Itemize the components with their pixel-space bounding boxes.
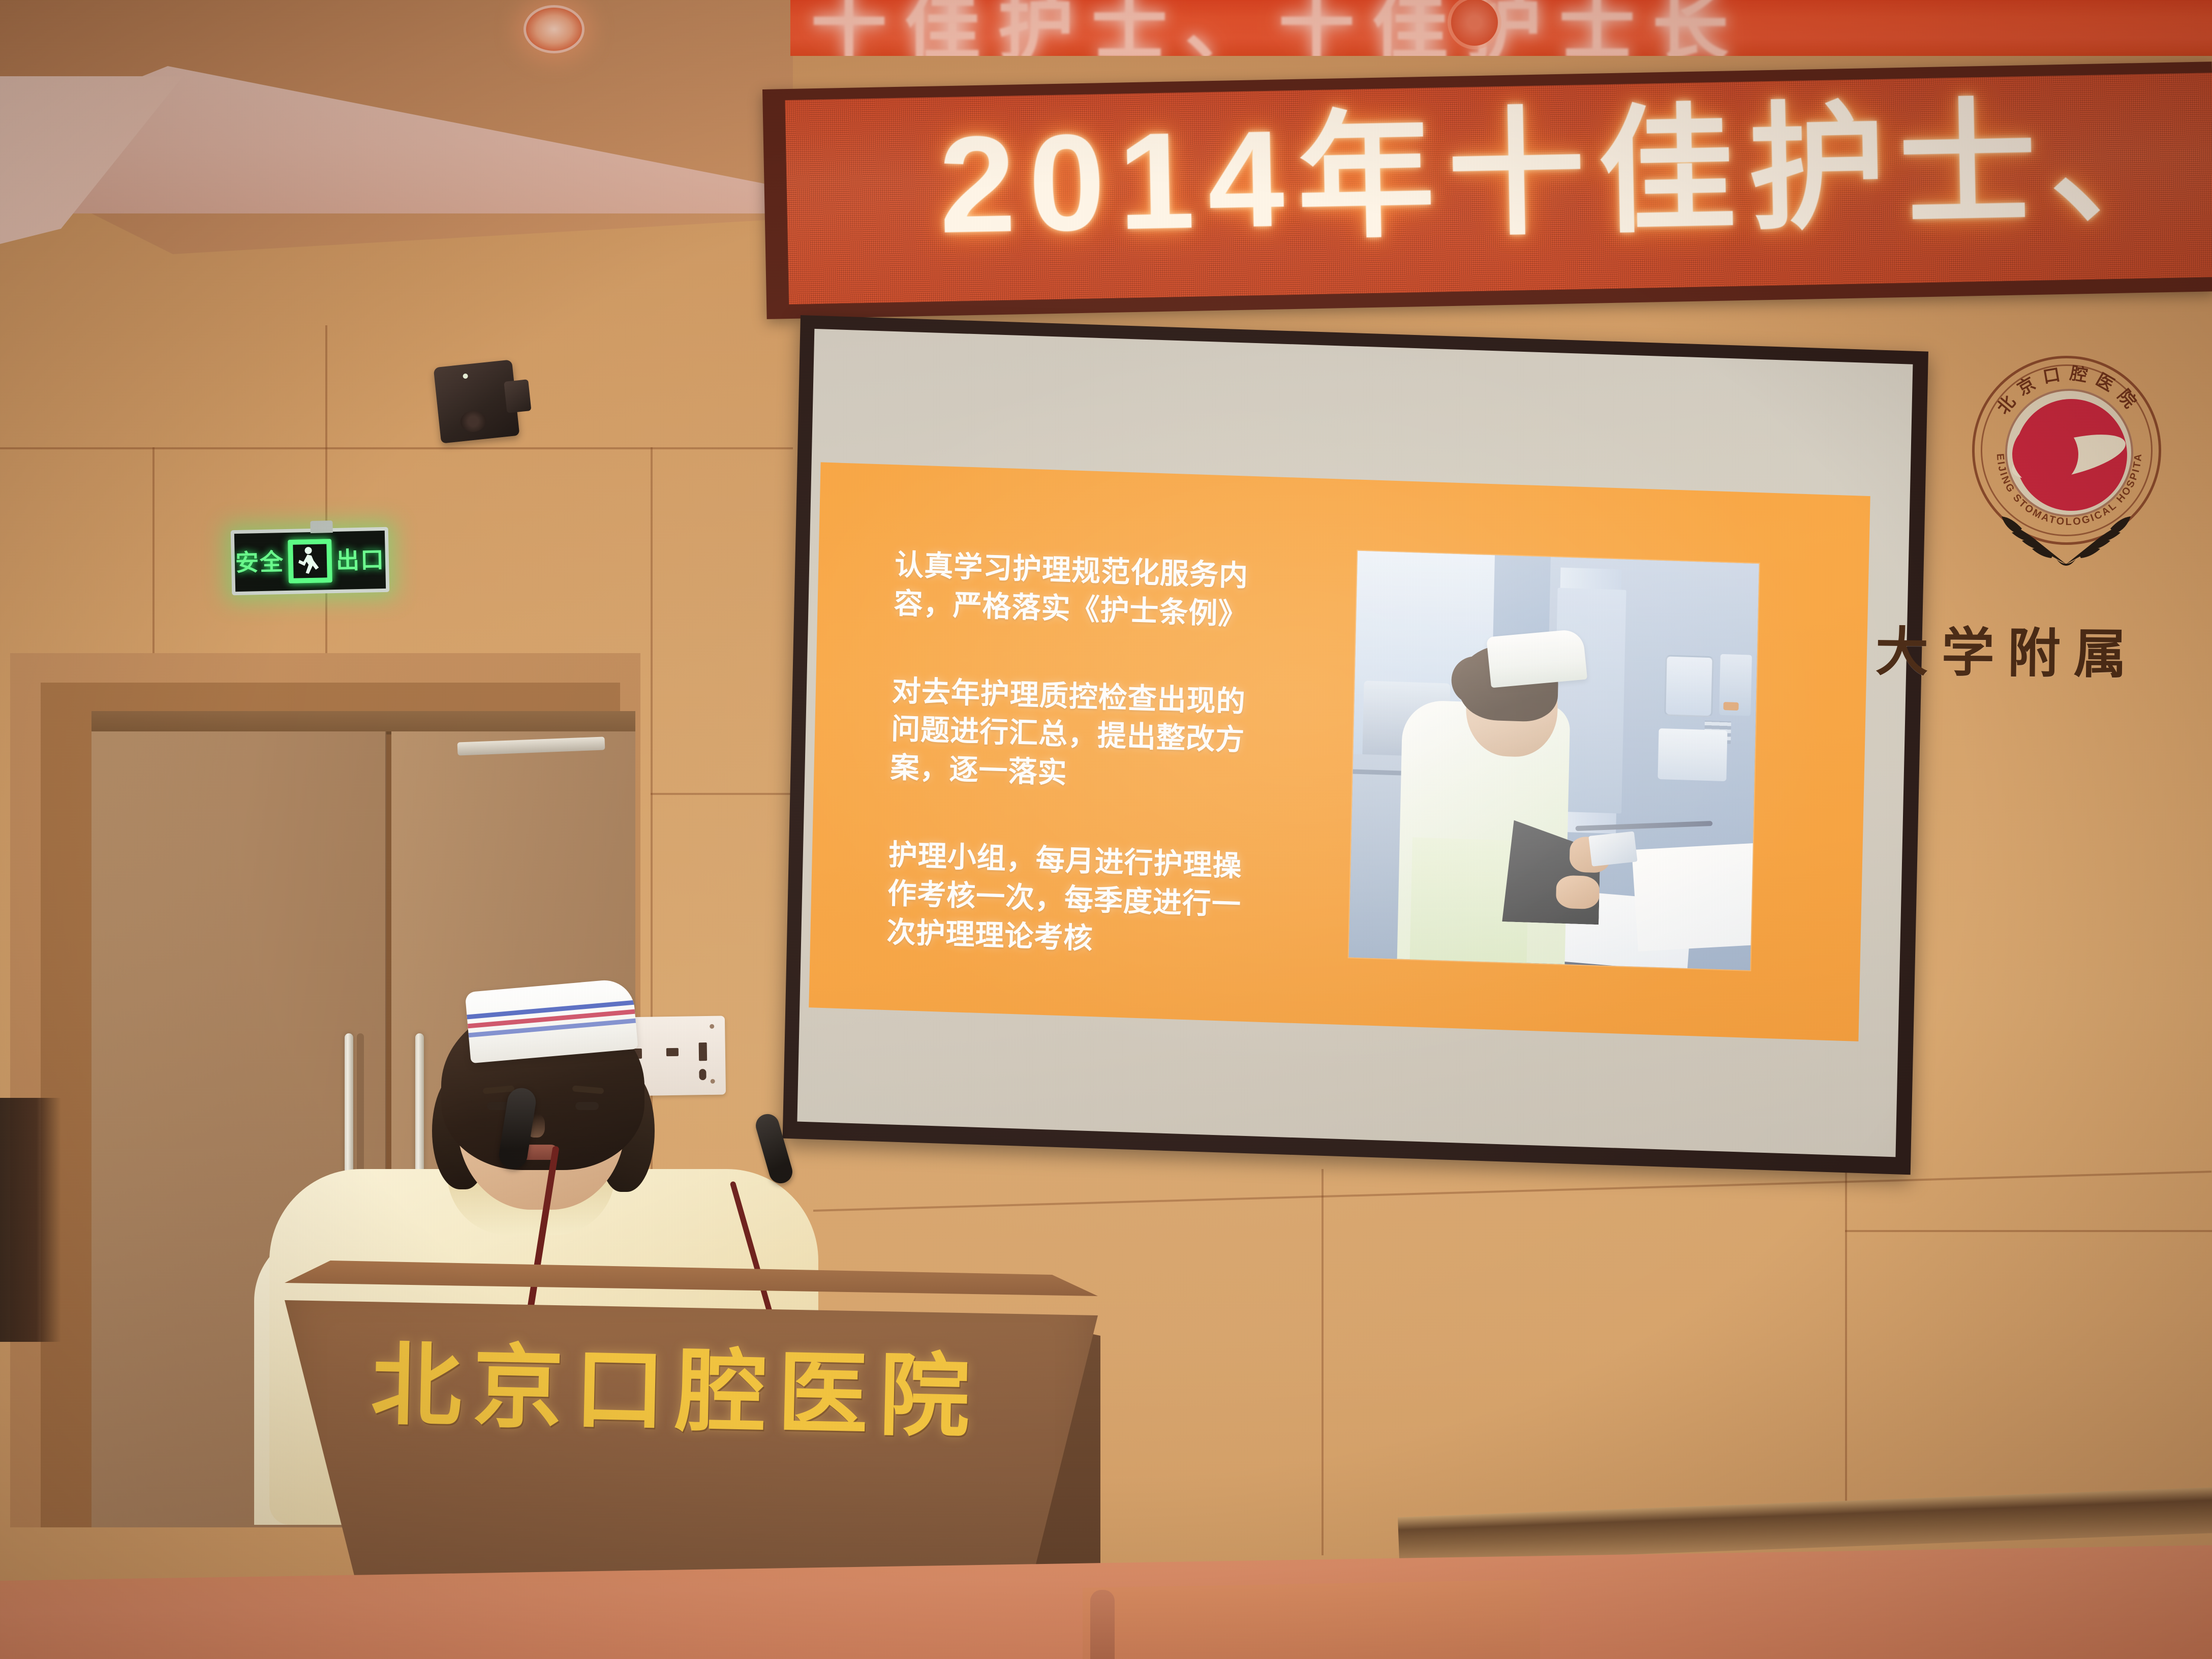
led-sign-screen: 2014年十佳护士、 bbox=[785, 73, 2212, 304]
presentation-slide: 认真学习护理规范化服务内容，严格落实《护士条例》 对去年护理质控检查出现的问题进… bbox=[809, 462, 1870, 1041]
photo-projection-wash bbox=[1349, 551, 1759, 970]
wall-seam bbox=[325, 325, 327, 661]
slide-body-text: 认真学习护理规范化服务内容，严格落实《护士条例》 对去年护理质控检查出现的问题进… bbox=[885, 546, 1261, 995]
wall-institution-text: 大学附属 bbox=[1875, 608, 2140, 688]
wall-seam bbox=[1845, 1230, 2212, 1232]
slide-photo bbox=[1349, 551, 1759, 970]
wall-seam bbox=[651, 793, 803, 795]
top-banner-text: 十佳护士、十佳护士长 bbox=[811, 0, 1746, 56]
led-sign: 2014年十佳护士、 bbox=[762, 62, 2212, 319]
wall-seam bbox=[152, 447, 155, 661]
lectern-hospital-name: 北京口腔医院 bbox=[370, 1340, 1017, 1445]
audience-seating bbox=[1083, 1580, 1540, 1659]
banner-emblem-dot bbox=[1451, 0, 1498, 46]
conference-room-scene: 十佳护士、十佳护士长 2014年十佳护士、 认真学习护理规范化服务内容，严格落实… bbox=[0, 0, 2212, 1659]
top-red-banner: 十佳护士、十佳护士长 bbox=[790, 0, 2212, 56]
slide-paragraph-2: 对去年护理质控检查出现的问题进行汇总，提出整改方案，逐一落实 bbox=[890, 672, 1258, 800]
dark-foreground-corner bbox=[0, 1098, 61, 1342]
wall-seam bbox=[0, 447, 793, 449]
wall-seam bbox=[1322, 1169, 1324, 1555]
projection-screen-surface: 认真学习护理规范化服务内容，严格落实《护士条例》 对去年护理质控检查出现的问题进… bbox=[797, 329, 1913, 1157]
camera-led-icon bbox=[463, 374, 468, 379]
running-person-exit-icon bbox=[288, 539, 332, 583]
exit-sign-mount bbox=[310, 520, 332, 533]
laurel-wreath-icon bbox=[1957, 478, 2175, 574]
security-camera-icon bbox=[434, 359, 520, 443]
nurse-cap bbox=[465, 978, 638, 1063]
speaker-eye bbox=[575, 1102, 599, 1110]
emergency-exit-sign: 安全 出口 bbox=[231, 527, 390, 595]
seating-armrest bbox=[1090, 1590, 1115, 1659]
slide-paragraph-3: 护理小组，每月进行护理操作考核一次，每季度进行一次护理理论考核 bbox=[886, 836, 1255, 964]
hospital-emblem: 北京口腔医院 BEIJING STOMATOLOGICAL HOSPITAL bbox=[1957, 356, 2175, 574]
lectern-top bbox=[285, 1261, 1098, 1296]
camera-lens-icon bbox=[459, 409, 487, 433]
slide-paragraph-1: 认真学习护理规范化服务内容，严格落实《护士条例》 bbox=[894, 546, 1261, 635]
led-sign-text: 2014年十佳护士、 bbox=[938, 85, 2201, 262]
projection-screen: 认真学习护理规范化服务内容，严格落实《护士条例》 对去年护理质控检查出现的问题进… bbox=[783, 315, 1928, 1175]
exit-sign-label-left: 安全 bbox=[235, 550, 285, 574]
recessed-downlight-icon bbox=[524, 5, 585, 53]
exit-sign-label-right: 出口 bbox=[336, 548, 385, 572]
